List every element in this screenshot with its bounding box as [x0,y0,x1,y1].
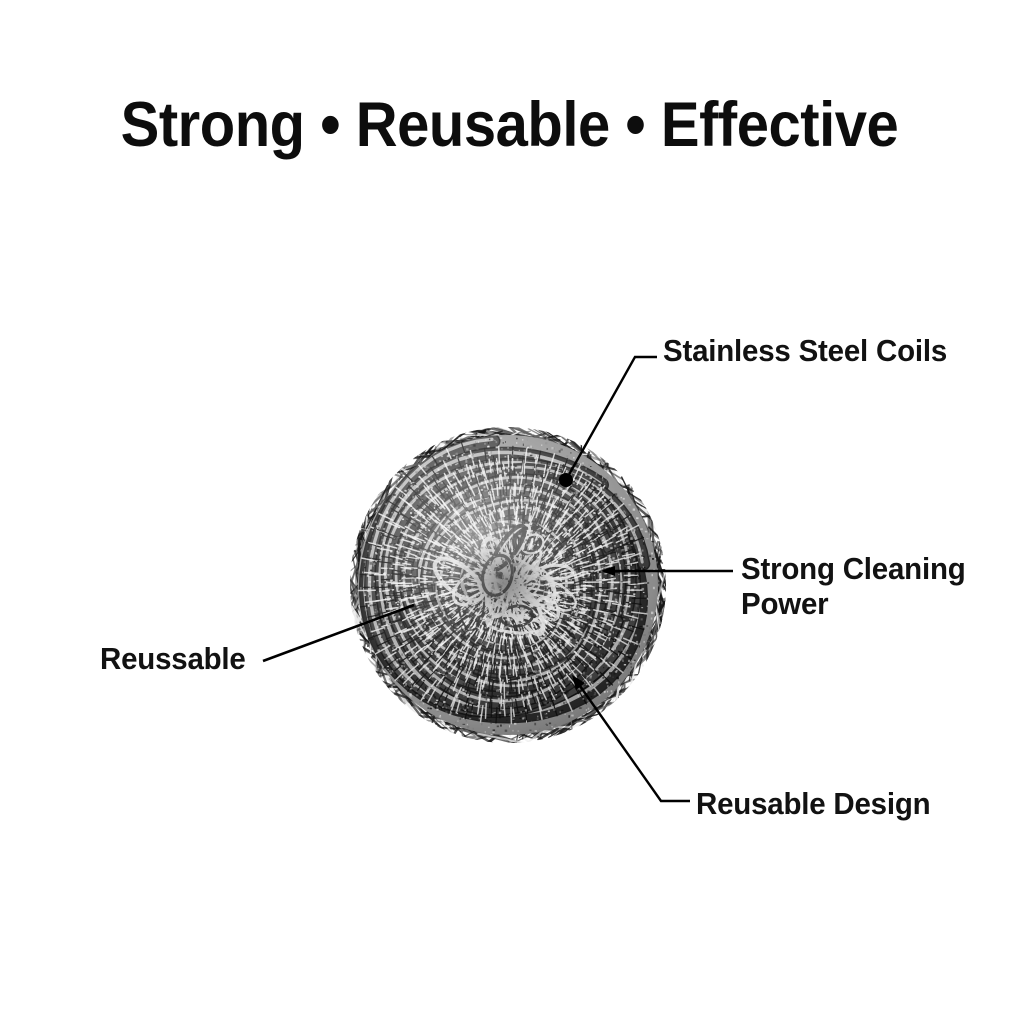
callout-label-strong-cleaning-power: Strong CleaningPower [741,551,988,621]
callout-power-line2: Power [741,586,828,621]
callout-power-line1: Strong Cleaning [741,551,966,586]
poster-canvas: Strong • Reusable • Effective Stainless … [0,0,1019,1024]
callout-label-stainless-steel-coils: Stainless Steel Coils [663,333,947,368]
callout-label-reusable-design: Reusable Design [696,786,930,821]
callout-label-reussable: Reussable [100,641,246,676]
scrubber-core-shadow [453,535,557,631]
page-title: Strong • Reusable • Effective [41,88,978,162]
